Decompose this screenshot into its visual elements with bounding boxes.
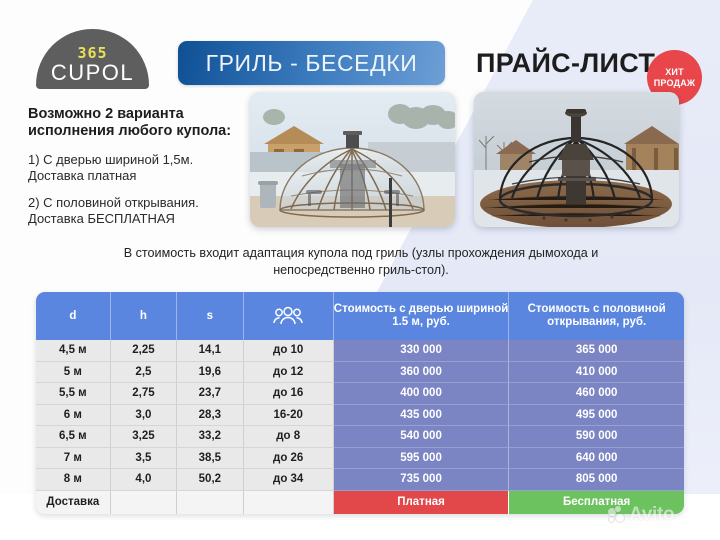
- table-row: 5,5 м 2,75 23,7 до 16 400 000 460 000: [36, 383, 684, 405]
- delivery-paid-badge: Платная: [334, 491, 510, 514]
- banner-title: ГРИЛЬ - БЕСЕДКИ: [206, 50, 418, 77]
- cell-diameter: 4,5 м: [36, 340, 111, 362]
- page-title: ПРАЙС-ЛИСТ: [476, 48, 655, 79]
- grill-gazebo-banner: ГРИЛЬ - БЕСЕДКИ: [178, 41, 445, 85]
- cell-capacity: до 8: [244, 426, 334, 448]
- photo-glass-dome-art: [250, 92, 455, 227]
- table-header-row: d h s Сто: [36, 292, 684, 340]
- price-table-body: 4,5 м 2,25 14,1 до 10 330 000 365 000 5 …: [36, 340, 684, 514]
- cell-capacity: до 10: [244, 340, 334, 362]
- cell-price-half: 590 000: [509, 426, 684, 448]
- cell-capacity: 16-20: [244, 405, 334, 427]
- cell-height: 3,25: [111, 426, 177, 448]
- table-row: 5 м 2,5 19,6 до 12 360 000 410 000: [36, 362, 684, 384]
- photo-glass-dome: [250, 92, 455, 227]
- badge-line-2: ПРОДАЖ: [654, 78, 695, 89]
- column-header-price-half: Стоимость с половиной открывания, руб.: [509, 292, 684, 340]
- cell-diameter: 8 м: [36, 469, 111, 491]
- column-header-height: h: [111, 292, 177, 340]
- column-header-area: s: [177, 292, 243, 340]
- price-table: d h s Сто: [36, 292, 684, 514]
- cell-diameter: 5,5 м: [36, 383, 111, 405]
- intro-heading: Возможно 2 варианта исполнения любого ку…: [28, 106, 243, 140]
- delivery-row: Доставка Платная Бесплатная: [36, 491, 684, 514]
- table-row: 6,5 м 3,25 33,2 до 8 540 000 590 000: [36, 426, 684, 448]
- table-row: 7 м 3,5 38,5 до 26 595 000 640 000: [36, 448, 684, 470]
- cell-capacity: до 34: [244, 469, 334, 491]
- avito-logo-icon: [608, 506, 626, 524]
- column-header-capacity: [244, 292, 334, 340]
- cell-capacity: до 12: [244, 362, 334, 384]
- cell-price-door: 435 000: [334, 405, 510, 427]
- cell-price-half: 805 000: [509, 469, 684, 491]
- pricelist-page: 365 CUPOL ГРИЛЬ - БЕСЕДКИ ПРАЙС-ЛИСТ ХИТ…: [0, 0, 720, 540]
- cell-capacity: до 16: [244, 383, 334, 405]
- logo-cupol-text: CUPOL: [51, 61, 134, 85]
- cell-diameter: 6,5 м: [36, 426, 111, 448]
- avito-wordmark: Avito: [629, 505, 674, 524]
- cell-capacity: до 26: [244, 448, 334, 470]
- cell-price-half: 365 000: [509, 340, 684, 362]
- cell-area: 23,7: [177, 383, 243, 405]
- cell-price-half: 460 000: [509, 383, 684, 405]
- cell-area: 19,6: [177, 362, 243, 384]
- cell-height: 2,25: [111, 340, 177, 362]
- cell-price-half: 495 000: [509, 405, 684, 427]
- cell-area: 28,3: [177, 405, 243, 427]
- cell-price-door: 735 000: [334, 469, 510, 491]
- logo-365-text: 365: [77, 45, 107, 61]
- table-row: 8 м 4,0 50,2 до 34 735 000 805 000: [36, 469, 684, 491]
- intro-copy: Возможно 2 варианта исполнения любого ку…: [28, 106, 243, 227]
- table-row: 6 м 3,0 28,3 16-20 435 000 495 000: [36, 405, 684, 427]
- cell-price-door: 360 000: [334, 362, 510, 384]
- cell-height: 3,5: [111, 448, 177, 470]
- avito-watermark: Avito: [608, 505, 674, 524]
- delivery-empty-2: [177, 491, 243, 514]
- cell-price-half: 410 000: [509, 362, 684, 384]
- people-icon: [272, 305, 304, 327]
- cell-diameter: 6 м: [36, 405, 111, 427]
- cell-area: 33,2: [177, 426, 243, 448]
- column-header-price-half-label: Стоимость с половиной открывания, руб.: [528, 303, 666, 328]
- badge-line-1: ХИТ: [665, 67, 684, 78]
- cell-height: 2,75: [111, 383, 177, 405]
- cell-price-half: 640 000: [509, 448, 684, 470]
- delivery-label: Доставка: [36, 491, 111, 514]
- cell-diameter: 5 м: [36, 362, 111, 384]
- cell-area: 38,5: [177, 448, 243, 470]
- adaptation-note: В стоимость входит адаптация купола под …: [78, 245, 644, 279]
- cell-price-door: 595 000: [334, 448, 510, 470]
- cell-price-door: 400 000: [334, 383, 510, 405]
- cell-height: 2,5: [111, 362, 177, 384]
- cell-height: 4,0: [111, 469, 177, 491]
- delivery-empty-1: [111, 491, 177, 514]
- cell-diameter: 7 м: [36, 448, 111, 470]
- intro-option-2: 2) С половиной открывания. Доставка БЕСП…: [28, 195, 243, 227]
- cell-price-door: 540 000: [334, 426, 510, 448]
- table-row: 4,5 м 2,25 14,1 до 10 330 000 365 000: [36, 340, 684, 362]
- column-header-diameter: d: [36, 292, 111, 340]
- column-header-price-door-label: Стоимость с дверью шириной 1.5 м, руб.: [334, 303, 509, 328]
- cell-height: 3,0: [111, 405, 177, 427]
- column-header-price-door: Стоимость с дверью шириной 1.5 м, руб.: [334, 292, 510, 340]
- delivery-empty-3: [244, 491, 334, 514]
- intro-option-1: 1) С дверью шириной 1,5м. Доставка платн…: [28, 152, 243, 184]
- cell-price-door: 330 000: [334, 340, 510, 362]
- photo-metal-dome: [474, 92, 679, 227]
- cell-area: 50,2: [177, 469, 243, 491]
- photo-metal-dome-art: [474, 92, 679, 227]
- price-table-head: d h s Сто: [36, 292, 684, 340]
- cell-area: 14,1: [177, 340, 243, 362]
